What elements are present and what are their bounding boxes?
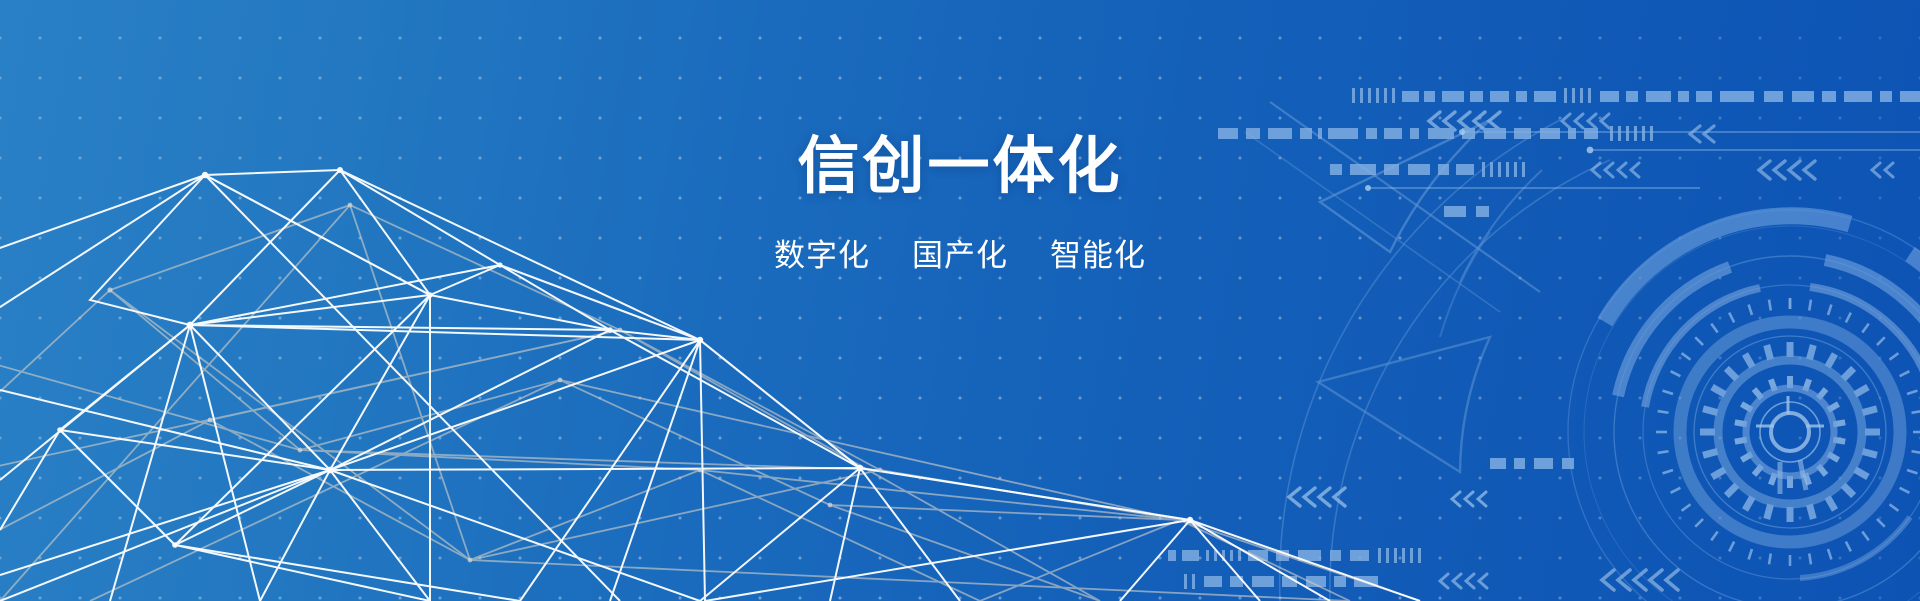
- hero-banner: 信创一体化 数字化 国产化 智能化: [0, 0, 1920, 601]
- subtitle-item-0: 数字化: [774, 240, 870, 271]
- polygon-mesh-graphic: [0, 0, 1920, 601]
- dot-grid-pattern: [0, 0, 1920, 601]
- subtitle-item-1: 国产化: [912, 240, 1008, 271]
- banner-text-block: 信创一体化 数字化 国产化 智能化: [0, 0, 1920, 601]
- hud-tech-graphic: [0, 0, 1920, 601]
- page-title: 信创一体化: [797, 136, 1122, 198]
- decor-dash-bars-top: [0, 0, 1920, 601]
- decor-dash-bars-bottom: [0, 0, 1920, 601]
- subtitle-list: 数字化 国产化 智能化: [774, 240, 1146, 271]
- subtitle-item-2: 智能化: [1050, 240, 1146, 271]
